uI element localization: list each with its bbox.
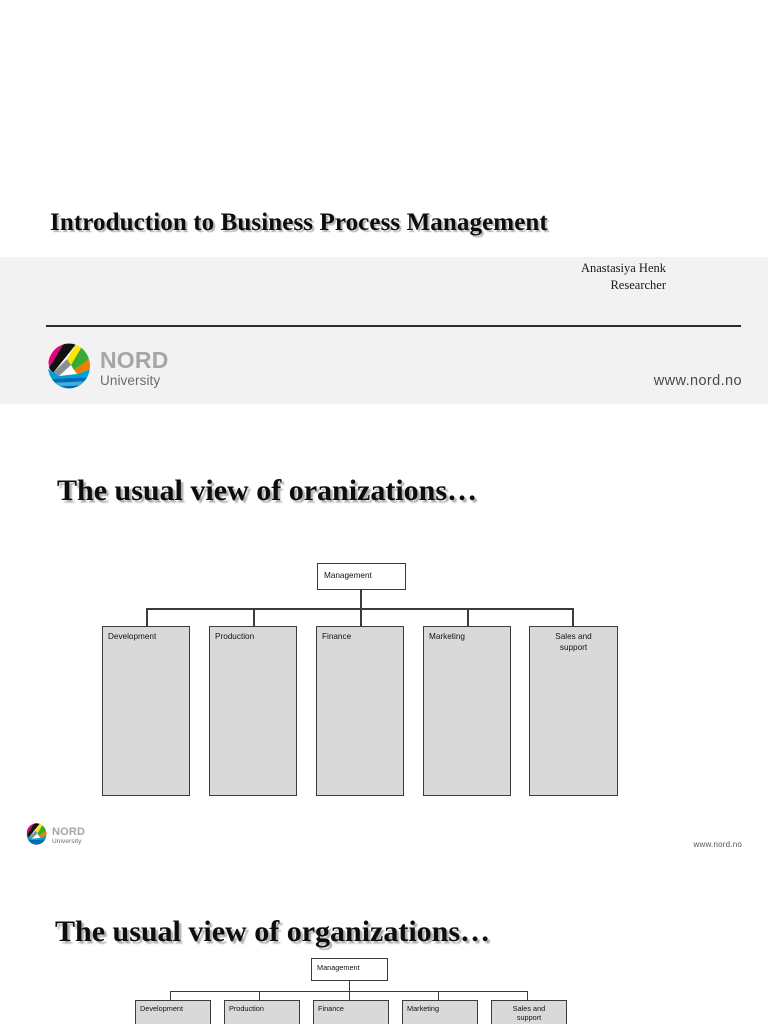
- org-node-label: Sales and support: [530, 627, 617, 653]
- nord-wordmark: NORD University: [100, 349, 169, 388]
- nord-wordmark-line2: University: [100, 374, 169, 388]
- org-node-production[interactable]: Production: [209, 626, 297, 796]
- org-connector-drop: [146, 608, 148, 628]
- org-connector-drop: [253, 608, 255, 628]
- slide-title: Introduction to Business Process Managem…: [0, 0, 768, 404]
- org-node-label: Management: [318, 564, 405, 581]
- org-chart-diagram: Management Development Production Financ…: [0, 420, 768, 800]
- org-node-label: Production: [210, 627, 296, 642]
- org-node-label: Production: [225, 1001, 299, 1013]
- org-node-sales-and-support[interactable]: Sales and support: [491, 1000, 567, 1024]
- org-node-sales-and-support[interactable]: Sales and support: [529, 626, 618, 796]
- document-page: Introduction to Business Process Managem…: [0, 0, 768, 1024]
- org-chart-diagram: Management Development Production Financ…: [0, 890, 768, 1024]
- nord-wordmark-line2: University: [52, 839, 85, 846]
- org-node-label: Finance: [314, 1001, 388, 1013]
- org-node-management[interactable]: Management: [317, 563, 406, 590]
- nord-logo: NORD University: [47, 345, 217, 392]
- nord-wordmark-line1: NORD: [52, 827, 85, 838]
- org-node-finance[interactable]: Finance: [316, 626, 404, 796]
- org-node-marketing[interactable]: Marketing: [402, 1000, 478, 1024]
- org-node-marketing[interactable]: Marketing: [423, 626, 511, 796]
- author-block: Anastasiya Henk Researcher: [366, 260, 666, 294]
- org-node-label: Development: [136, 1001, 210, 1013]
- org-node-label: Sales and support: [492, 1001, 566, 1022]
- brand-url[interactable]: www.nord.no: [654, 373, 742, 389]
- org-node-development[interactable]: Development: [102, 626, 190, 796]
- slide-usual-view-1: The usual view of oranizations… Manageme…: [0, 420, 768, 872]
- org-connector-drop: [360, 608, 362, 628]
- org-node-label: Management: [312, 959, 387, 972]
- author-role: Researcher: [366, 277, 666, 294]
- org-node-production[interactable]: Production: [224, 1000, 300, 1024]
- org-node-development[interactable]: Development: [135, 1000, 211, 1024]
- org-connector-drop: [572, 608, 574, 628]
- org-node-label: Development: [103, 627, 189, 642]
- nord-emblem-icon: [47, 343, 91, 394]
- org-node-finance[interactable]: Finance: [313, 1000, 389, 1024]
- org-node-label: Finance: [317, 627, 403, 642]
- org-node-label: Marketing: [403, 1001, 477, 1013]
- nord-wordmark-line1: NORD: [100, 349, 169, 372]
- nord-logo-small: NORD University: [26, 823, 85, 850]
- divider: [46, 325, 741, 327]
- author-name: Anastasiya Henk: [366, 260, 666, 277]
- org-node-management[interactable]: Management: [311, 958, 388, 981]
- nord-emblem-icon: [26, 823, 47, 850]
- org-connector-drop: [467, 608, 469, 628]
- org-node-label: Marketing: [424, 627, 510, 642]
- slide-usual-view-2: The usual view of organizations… Managem…: [0, 890, 768, 1024]
- brand-url[interactable]: www.nord.no: [694, 840, 742, 849]
- page-title: Introduction to Business Process Managem…: [50, 207, 740, 239]
- nord-wordmark: NORD University: [52, 827, 85, 846]
